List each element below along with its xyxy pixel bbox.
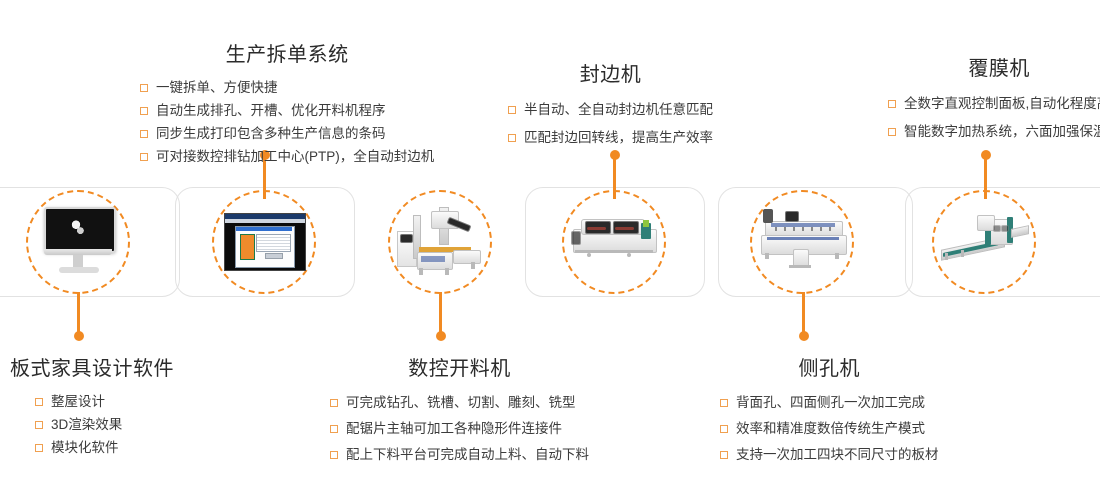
infographic-canvas: 生产拆单系统 一键拆单、方便快捷 自动生成排孔、开槽、优化开料机程序 同步生成打… [0, 0, 1100, 495]
laminating-machine-icon [941, 203, 1027, 281]
connector-dot [981, 150, 991, 160]
side-hole-drilling-machine-icon [759, 203, 845, 281]
connector-dot [799, 331, 809, 341]
checkbox-icon [35, 421, 43, 429]
list-item-label: 一键拆单、方便快捷 [156, 76, 278, 99]
list-item: 匹配封边回转线，提高生产效率 [508, 124, 713, 152]
list-item: 配上下料平台可完成自动上料、自动下料 [330, 442, 589, 468]
checkbox-icon [508, 134, 516, 142]
checkbox-icon [140, 130, 148, 138]
checkbox-icon [330, 425, 338, 433]
list-item-label: 配锯片主轴可加工各种隐形件连接件 [346, 416, 562, 442]
block-laminating-machine: 覆膜机 全数字直观控制面板,自动化程度高 智能数字加热系统，六面加强保温 [888, 52, 1100, 146]
connector-line-design-software [77, 292, 80, 336]
list-item-label: 匹配封边回转线，提高生产效率 [524, 124, 713, 152]
list-item: 自动生成排孔、开槽、优化开料机程序 [140, 99, 434, 122]
connector-dot [436, 331, 446, 341]
node-splitting-software[interactable] [212, 190, 316, 294]
list-item-label: 配上下料平台可完成自动上料、自动下料 [346, 442, 589, 468]
list-item-label: 整屋设计 [51, 390, 105, 413]
block-title: 覆膜机 [888, 52, 1100, 81]
checkbox-icon [140, 153, 148, 161]
list-item-label: 支持一次加工四块不同尺寸的板材 [736, 442, 939, 468]
list-item: 全数字直观控制面板,自动化程度高 [888, 90, 1100, 118]
list-item: 整屋设计 [35, 390, 174, 413]
checkbox-icon [888, 100, 896, 108]
block-edge-banding-machine: 封边机 半自动、全自动封边机任意匹配 匹配封边回转线，提高生产效率 [508, 58, 713, 152]
feature-list: 整屋设计 3D渲染效果 模块化软件 [35, 390, 174, 459]
node-side-driller[interactable] [750, 190, 854, 294]
list-item: 可对接数控排钻加工中心(PTP)，全自动封边机 [140, 145, 434, 168]
edge-banding-machine-icon [571, 203, 657, 281]
checkbox-icon [140, 107, 148, 115]
feature-list: 可完成钻孔、铣槽、切割、雕刻、铣型 配锯片主轴可加工各种隐形件连接件 配上下料平… [330, 390, 589, 468]
node-edge-bander[interactable] [562, 190, 666, 294]
connector-line-cnc-cutting [439, 292, 442, 336]
list-item: 背面孔、四面侧孔一次加工完成 [720, 390, 939, 416]
block-panel-furniture-design-software: 板式家具设计软件 整屋设计 3D渲染效果 模块化软件 [10, 352, 174, 459]
list-item-label: 自动生成排孔、开槽、优化开料机程序 [156, 99, 386, 122]
block-title: 封边机 [508, 58, 713, 87]
list-item: 效率和精准度数倍传统生产模式 [720, 416, 939, 442]
checkbox-icon [888, 128, 896, 136]
connector-dot [74, 331, 84, 341]
block-title: 数控开料机 [330, 352, 589, 381]
feature-list: 半自动、全自动封边机任意匹配 匹配封边回转线，提高生产效率 [508, 96, 713, 152]
list-item: 一键拆单、方便快捷 [140, 76, 434, 99]
list-item: 配锯片主轴可加工各种隐形件连接件 [330, 416, 589, 442]
list-item: 模块化软件 [35, 436, 174, 459]
list-item: 智能数字加热系统，六面加强保温 [888, 118, 1100, 146]
checkbox-icon [330, 399, 338, 407]
feature-list: 一键拆单、方便快捷 自动生成排孔、开槽、优化开料机程序 同步生成打印包含多种生产… [140, 76, 434, 168]
checkbox-icon [35, 398, 43, 406]
checkbox-icon [35, 444, 43, 452]
list-item-label: 模块化软件 [51, 436, 119, 459]
list-item: 半自动、全自动封边机任意匹配 [508, 96, 713, 124]
connector-line-side-driller [802, 292, 805, 336]
list-item-label: 可对接数控排钻加工中心(PTP)，全自动封边机 [156, 145, 434, 168]
node-cnc-cutting[interactable] [388, 190, 492, 294]
checkbox-icon [140, 84, 148, 92]
block-side-hole-drilling-machine: 侧孔机 背面孔、四面侧孔一次加工完成 效率和精准度数倍传统生产模式 支持一次加工… [720, 352, 939, 468]
checkbox-icon [330, 451, 338, 459]
feature-list: 背面孔、四面侧孔一次加工完成 效率和精准度数倍传统生产模式 支持一次加工四块不同… [720, 390, 939, 468]
node-laminator[interactable] [932, 190, 1036, 294]
checkbox-icon [720, 399, 728, 407]
block-title: 板式家具设计软件 [10, 352, 174, 381]
list-item-label: 智能数字加热系统，六面加强保温 [904, 118, 1100, 146]
imac-monitor-icon [35, 203, 121, 281]
checkbox-icon [720, 451, 728, 459]
list-item-label: 可完成钻孔、铣槽、切割、雕刻、铣型 [346, 390, 576, 416]
list-item-label: 全数字直观控制面板,自动化程度高 [904, 90, 1100, 118]
cad-software-screenshot-icon [221, 203, 307, 281]
list-item: 同步生成打印包含多种生产信息的条码 [140, 122, 434, 145]
list-item-label: 同步生成打印包含多种生产信息的条码 [156, 122, 386, 145]
block-cnc-cutting-machine: 数控开料机 可完成钻孔、铣槽、切割、雕刻、铣型 配锯片主轴可加工各种隐形件连接件… [330, 352, 589, 468]
list-item-label: 半自动、全自动封边机任意匹配 [524, 96, 713, 124]
list-item: 3D渲染效果 [35, 413, 174, 436]
list-item-label: 3D渲染效果 [51, 413, 122, 436]
list-item: 支持一次加工四块不同尺寸的板材 [720, 442, 939, 468]
list-item-label: 背面孔、四面侧孔一次加工完成 [736, 390, 925, 416]
checkbox-icon [720, 425, 728, 433]
block-title: 侧孔机 [720, 352, 939, 381]
feature-list: 全数字直观控制面板,自动化程度高 智能数字加热系统，六面加强保温 [888, 90, 1100, 146]
block-title: 生产拆单系统 [140, 38, 434, 67]
list-item: 可完成钻孔、铣槽、切割、雕刻、铣型 [330, 390, 589, 416]
block-production-splitting-system: 生产拆单系统 一键拆单、方便快捷 自动生成排孔、开槽、优化开料机程序 同步生成打… [140, 38, 434, 168]
list-item-label: 效率和精准度数倍传统生产模式 [736, 416, 925, 442]
checkbox-icon [508, 106, 516, 114]
node-design-software[interactable] [26, 190, 130, 294]
cnc-router-machine-icon [397, 203, 483, 281]
